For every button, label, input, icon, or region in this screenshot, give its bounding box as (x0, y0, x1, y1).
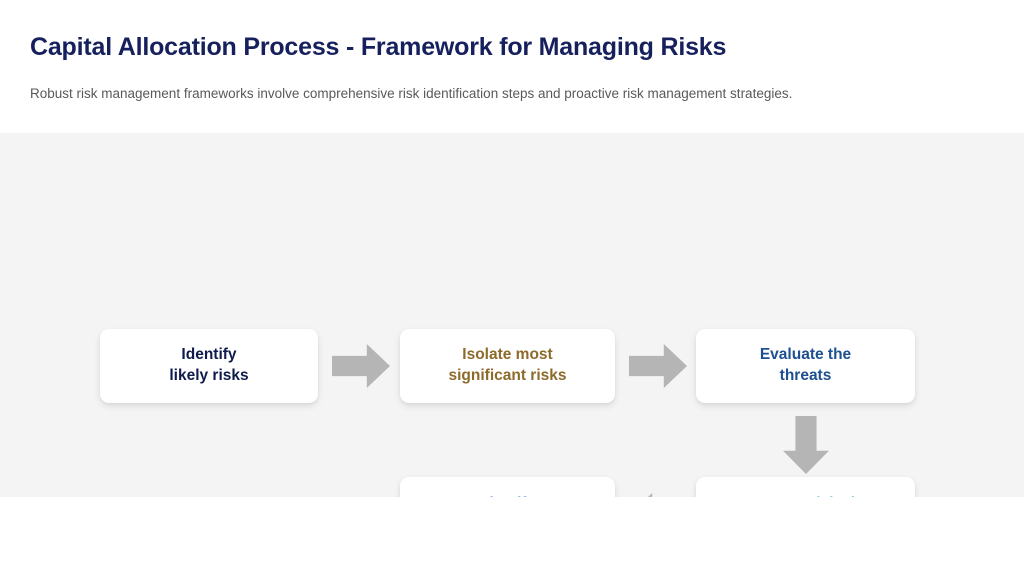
slide-header: Capital Allocation Process - Framework f… (0, 0, 1024, 133)
process-step-line-2: likely risks (169, 366, 248, 387)
process-flow-diagram: Identify likely risks Isolate most signi… (0, 133, 1024, 497)
process-step-text: Isolate most significant risks (448, 345, 566, 387)
process-step-line-1: Identify (169, 345, 248, 366)
slide-footer: Corporate Finance Institute® CFI ™ (0, 497, 1024, 572)
process-step-isolate-risks[interactable]: Isolate most significant risks (400, 329, 615, 403)
process-step-line-2: significant risks (448, 366, 566, 387)
process-step-evaluate-threats[interactable]: Evaluate the threats (696, 329, 915, 403)
process-step-line-1: Evaluate the (760, 345, 851, 366)
process-step-text: Evaluate the threats (760, 345, 851, 387)
arrow-down-icon (783, 416, 829, 474)
page-subtitle: Robust risk management frameworks involv… (30, 86, 792, 101)
process-step-text: Identify likely risks (169, 345, 248, 387)
process-step-line-1: Isolate most (448, 345, 566, 366)
page-title: Capital Allocation Process - Framework f… (30, 33, 726, 62)
process-step-line-2: threats (760, 366, 851, 387)
arrow-right-icon (629, 344, 687, 388)
process-step-identify-risks[interactable]: Identify likely risks (100, 329, 318, 403)
arrow-right-icon (332, 344, 390, 388)
